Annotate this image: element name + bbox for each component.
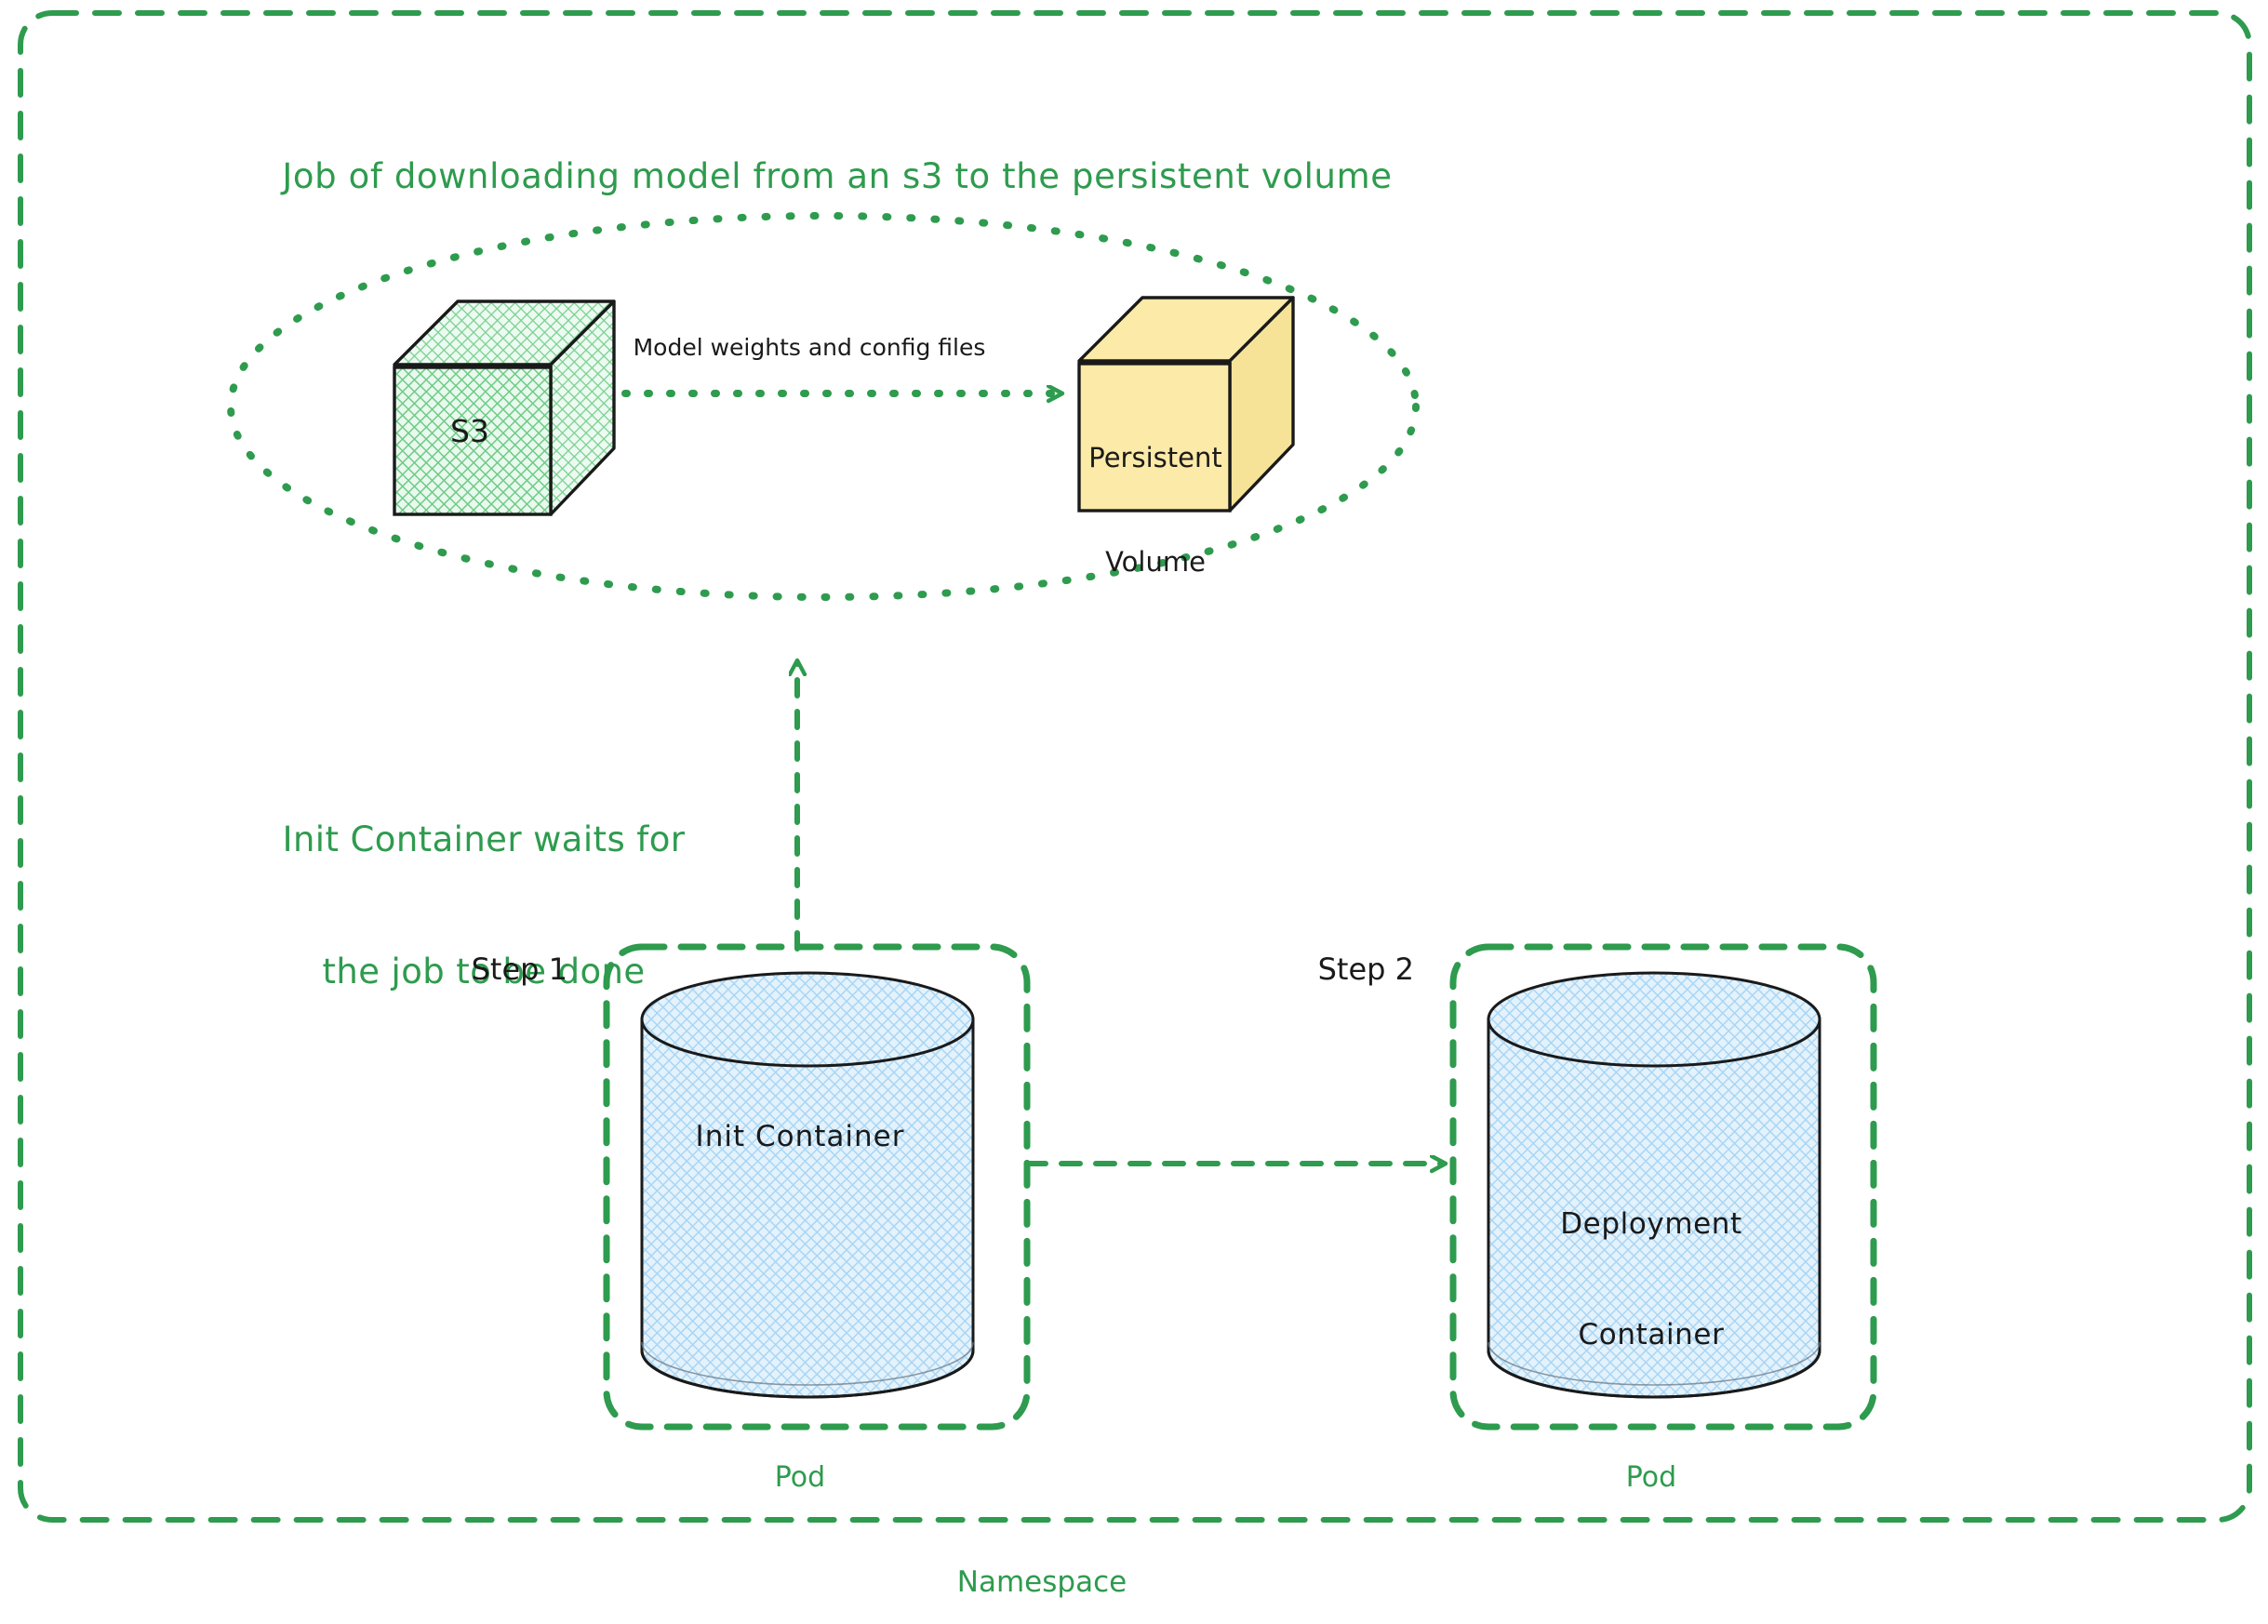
deployment-container-label: Deployment Container xyxy=(1484,1133,1819,1428)
persistent-volume-label-line2: Volume xyxy=(1081,545,1230,579)
init-container-label: Init Container xyxy=(633,1119,967,1156)
deployment-container-label-line1: Deployment xyxy=(1484,1206,1819,1244)
step-2-label: Step 2 xyxy=(1265,951,1414,989)
deployment-container-label-line2: Container xyxy=(1484,1317,1819,1354)
persistent-volume-label-line1: Persistent xyxy=(1081,441,1230,475)
persistent-volume-label: Persistent Volume xyxy=(1081,372,1230,648)
diagram-canvas: Job of downloading model from an s3 to t… xyxy=(0,0,2268,1624)
pod-2-label: Pod xyxy=(1484,1460,1819,1496)
pod-1-label: Pod xyxy=(633,1460,967,1496)
edge-label-model-weights: Model weights and config files xyxy=(577,333,1042,363)
job-group-title: Job of downloading model from an s3 to t… xyxy=(0,154,1674,198)
wait-edge-label: Init Container waits for the job to be d… xyxy=(186,729,781,1082)
step-1-label: Step 1 xyxy=(419,951,567,989)
wait-edge-label-line1: Init Container waits for xyxy=(186,818,781,861)
s3-label: S3 xyxy=(391,412,549,451)
namespace-label: Namespace xyxy=(874,1564,1209,1602)
